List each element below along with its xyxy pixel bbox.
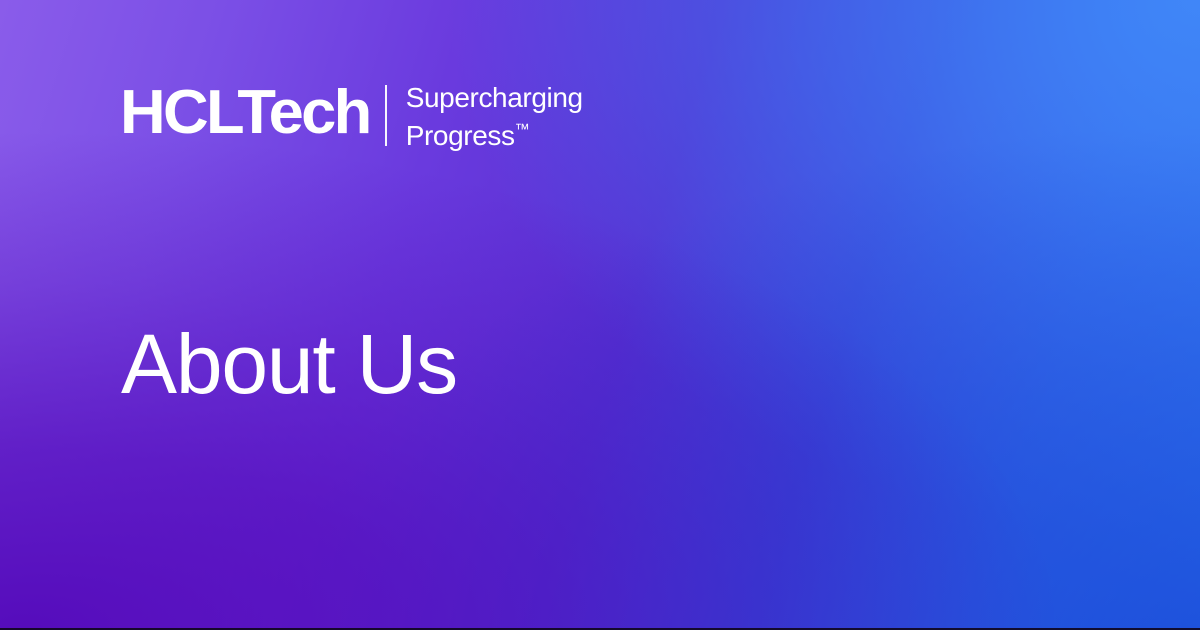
- logo-tagline-line-1: Supercharging: [406, 82, 583, 114]
- logo-divider: [385, 85, 387, 146]
- banner: HCLTech Supercharging Progress™ About Us: [0, 0, 1200, 630]
- logo-wordmark: HCLTech: [120, 80, 370, 146]
- logo-tagline-line-2: Progress™: [406, 114, 583, 152]
- hcltech-logo[interactable]: HCLTech Supercharging Progress™: [120, 80, 583, 152]
- logo-tagline: Supercharging Progress™: [406, 82, 583, 152]
- page-title: About Us: [121, 316, 457, 412]
- logo-tagline-progress: Progress: [406, 120, 515, 151]
- trademark-icon: ™: [515, 121, 530, 138]
